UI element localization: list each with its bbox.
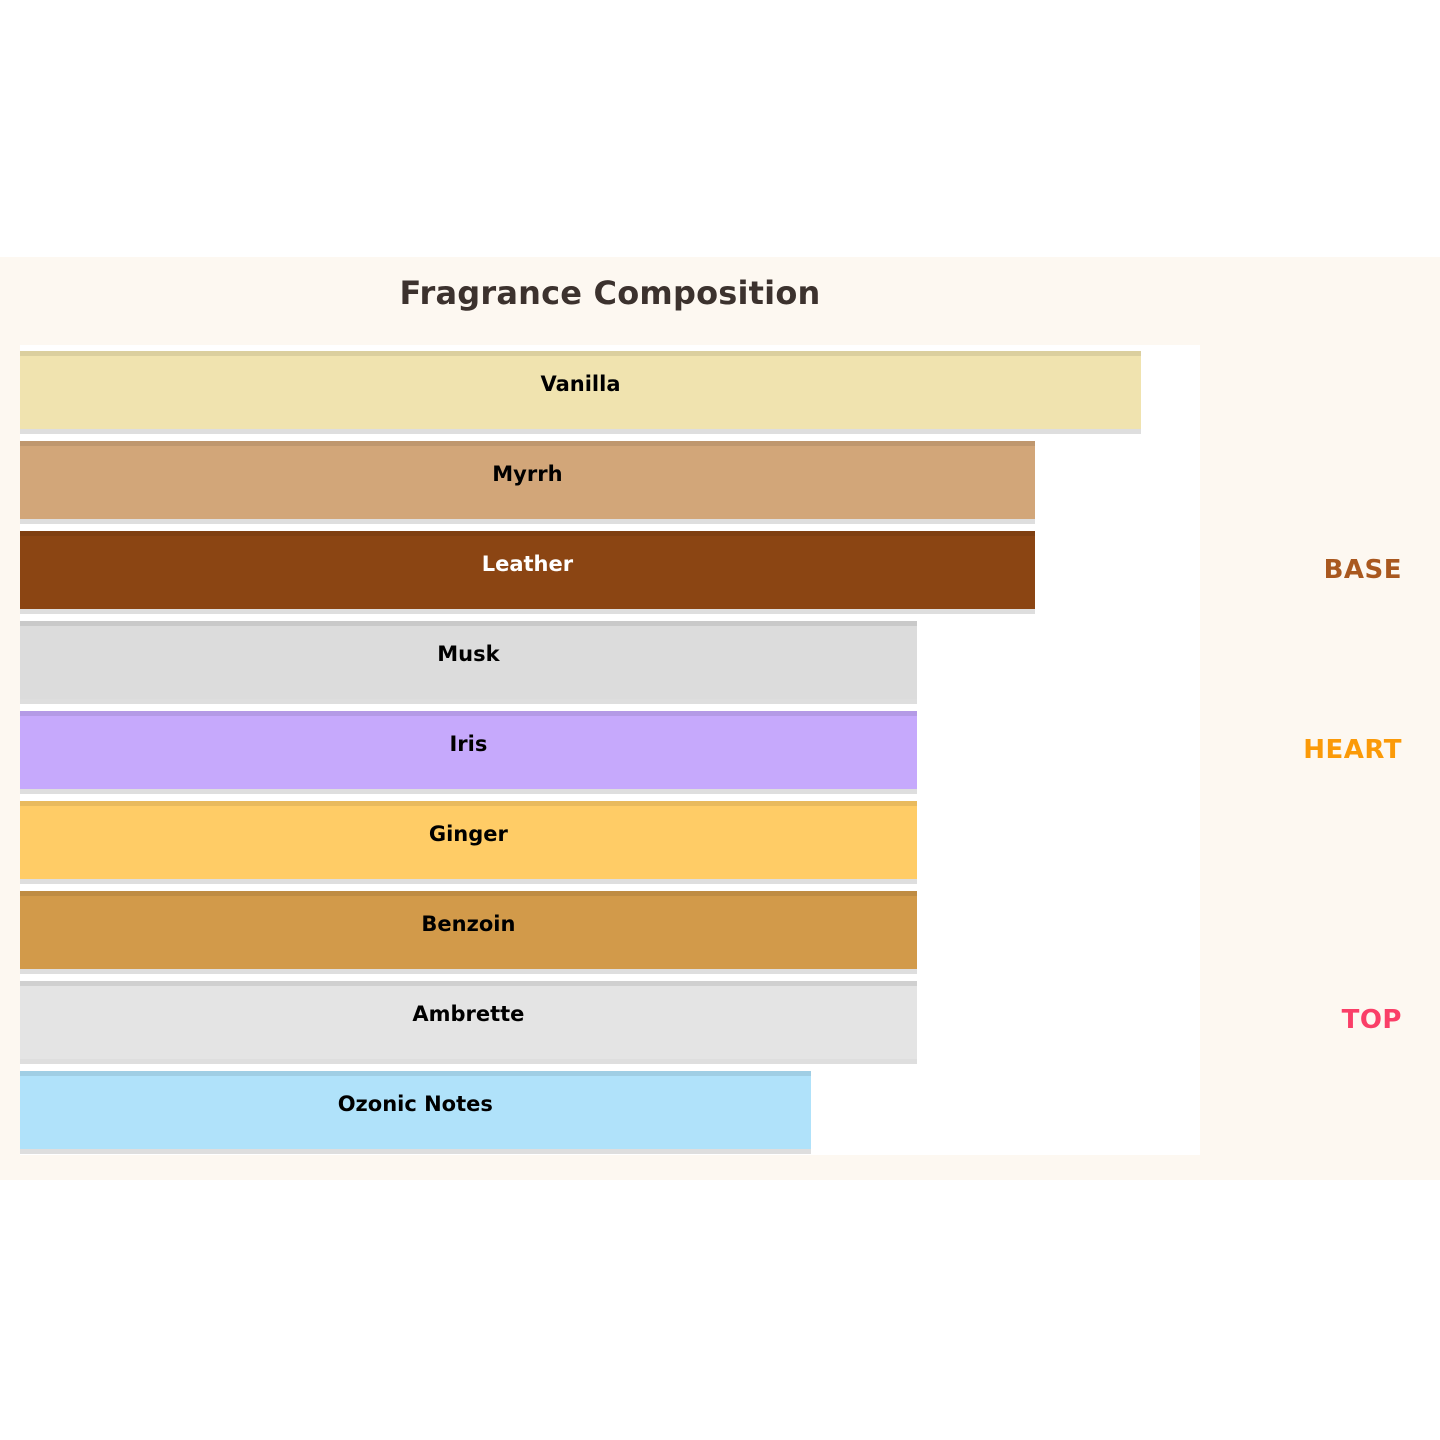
stage-label-top: TOP [1342,1005,1402,1035]
bar-row: Myrrh [20,435,1200,525]
bar-row: Vanilla [20,345,1200,435]
page-title: Fragrance Composition [0,274,1220,312]
bar-row: Leather [20,525,1200,615]
bar-row: Ambrette [20,975,1200,1065]
stage-label-heart: HEART [1303,735,1402,765]
bar-ambrette[interactable] [20,981,917,1059]
bar-row: Ozonic Notes [20,1065,1200,1155]
bar-musk[interactable] [20,621,917,699]
bar-row: Ginger [20,795,1200,885]
bar-benzoin[interactable] [20,891,917,969]
bar-leather[interactable] [20,531,1035,609]
bar-row: Iris [20,705,1200,795]
bar-iris[interactable] [20,711,917,789]
bar-row: Musk [20,615,1200,705]
figure-canvas: Fragrance Composition VanillaMyrrhLeathe… [0,257,1440,1180]
plot-area: VanillaMyrrhLeatherMuskIrisGingerBenzoin… [20,345,1200,1155]
bar-vanilla[interactable] [20,351,1141,429]
bar-ginger[interactable] [20,801,917,879]
bar-row: Benzoin [20,885,1200,975]
bar-ozonic-notes[interactable] [20,1071,811,1149]
stage-label-base: BASE [1324,555,1402,585]
bar-myrrh[interactable] [20,441,1035,519]
